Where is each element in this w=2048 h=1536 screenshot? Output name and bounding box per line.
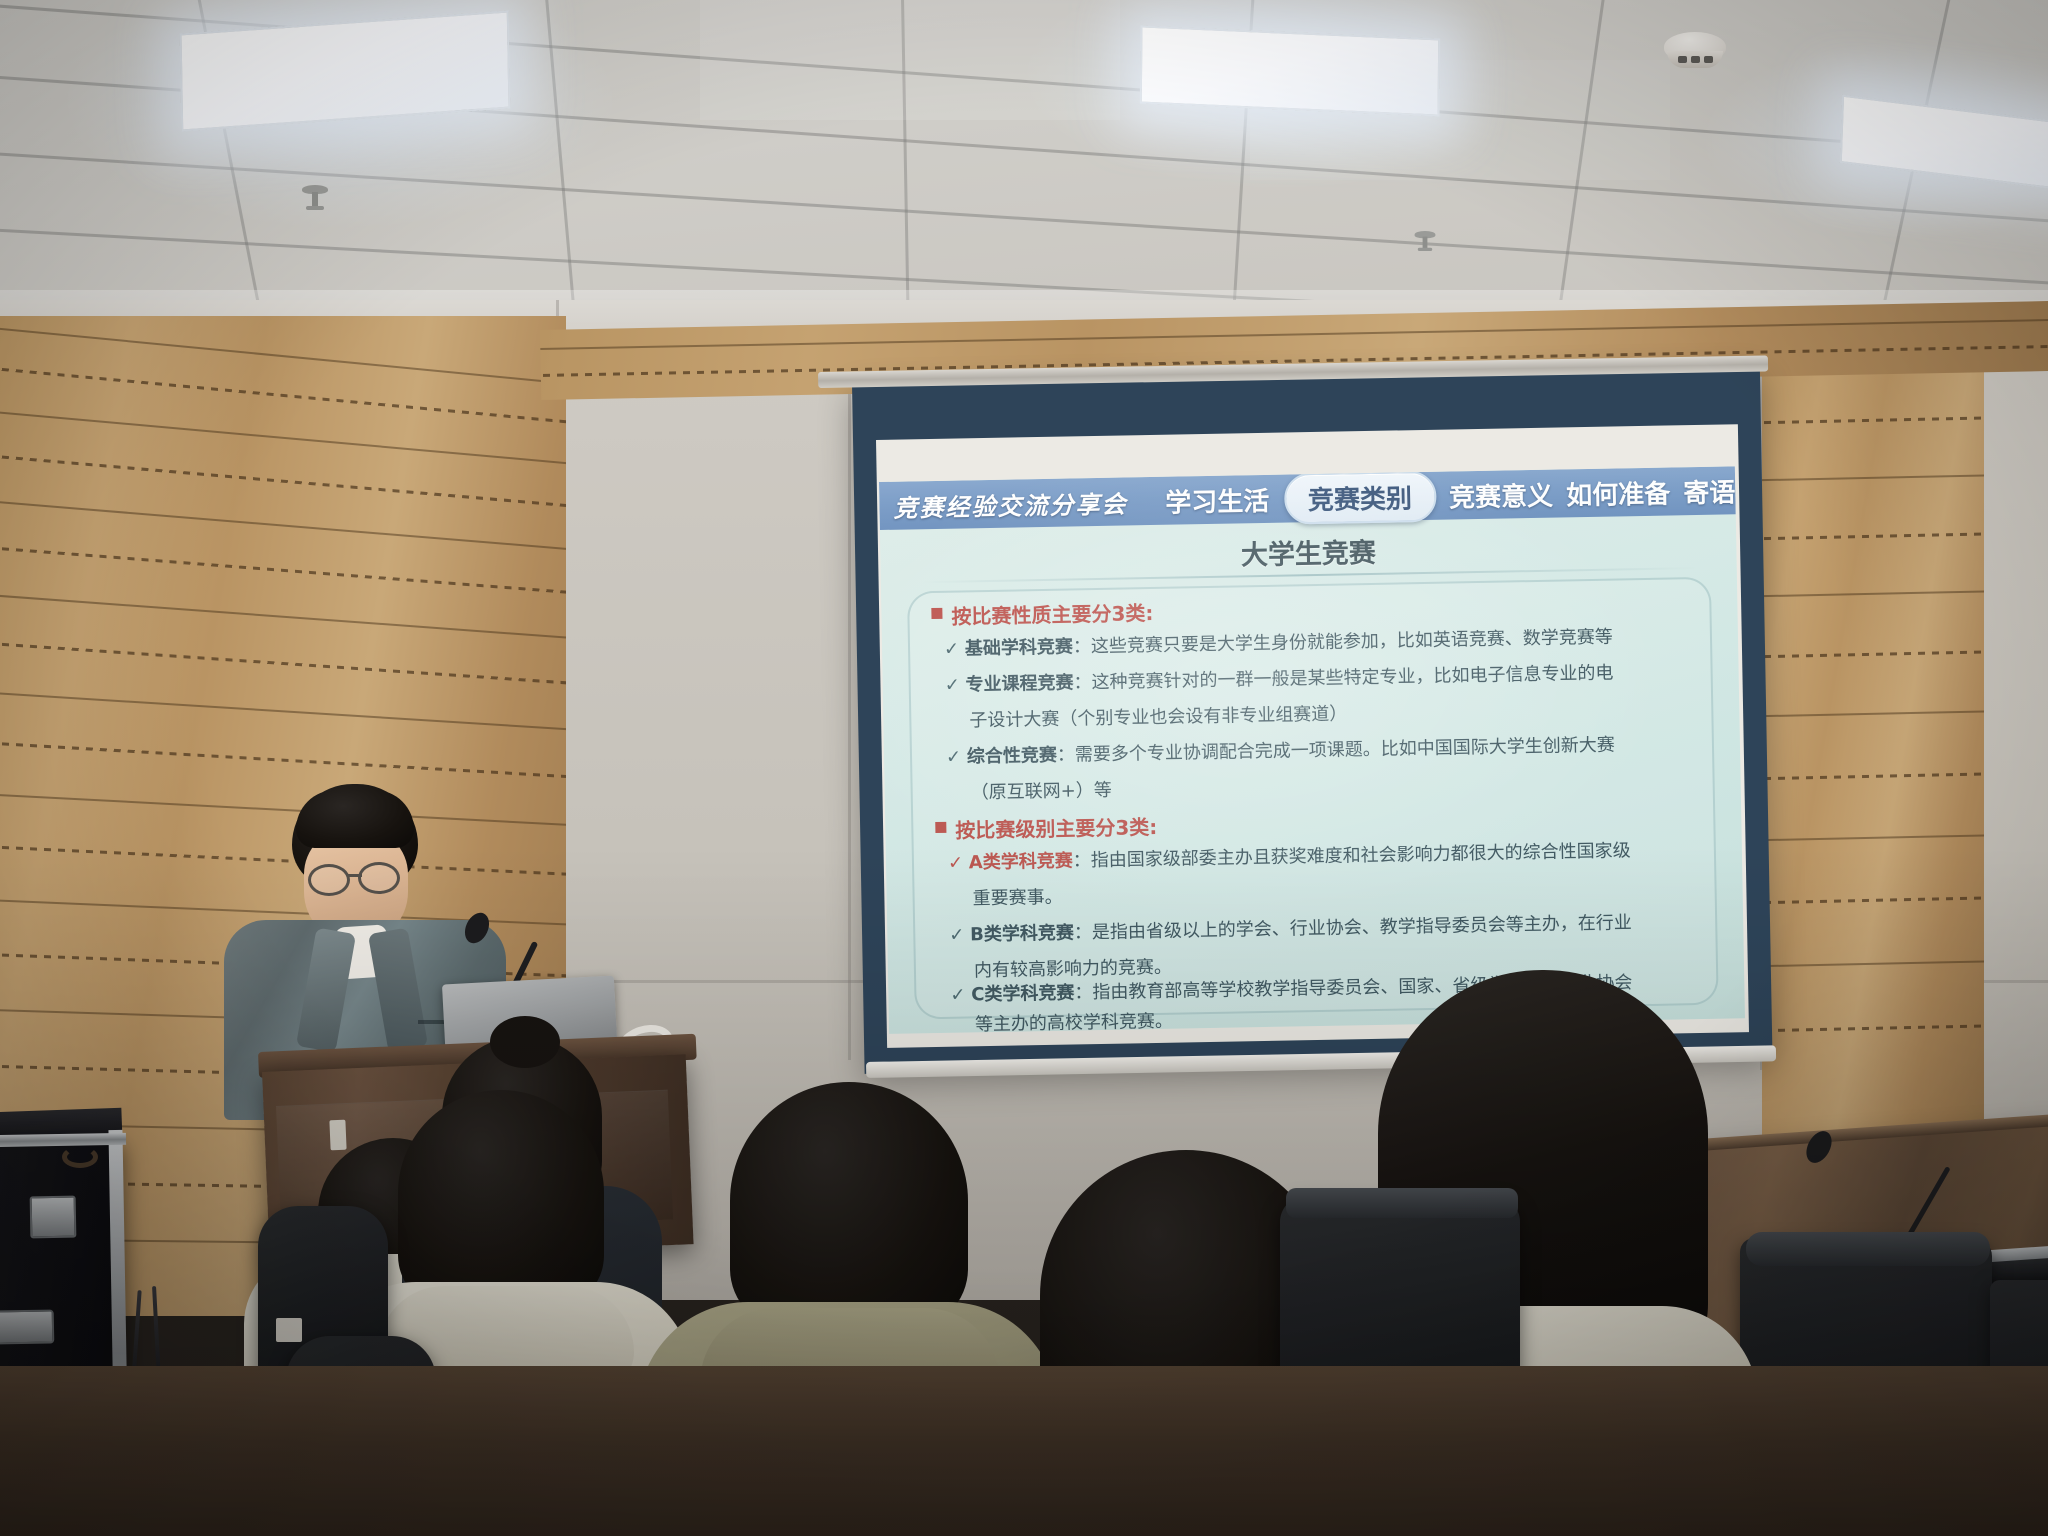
item-label: 综合性竞赛 — [967, 745, 1057, 768]
nav-item-jingsaiyiyi[interactable]: 竞赛意义 — [1449, 475, 1554, 514]
item-label: A类学科竞赛 — [969, 851, 1073, 874]
nav-item-xuexishenghuo[interactable]: 学习生活 — [1165, 480, 1270, 519]
presenter-glasses-left-lens — [308, 864, 350, 896]
room-scene: 竞赛经验交流分享会 学习生活 竞赛类别 竞赛意义 如何准备 寄语 大学生竞赛 按… — [0, 0, 2048, 1536]
conference-chair-right-1-backrail — [1746, 1232, 1990, 1266]
check-icon: ✓ — [946, 747, 961, 768]
bullet-square-marker-1 — [931, 608, 942, 619]
flight-case-latch-top[interactable] — [30, 1196, 77, 1239]
smoke-detector-icon — [1664, 32, 1726, 72]
check-icon: ✓ — [950, 985, 965, 1006]
sprinkler-icon-right — [1415, 231, 1436, 255]
item-sep: ： — [1073, 850, 1091, 871]
floor — [0, 1366, 2048, 1536]
item-label: C类学科竞赛 — [971, 983, 1075, 1006]
item-sep: ： — [1074, 922, 1092, 943]
audience-member-2-bun — [490, 1016, 560, 1068]
ceiling-light-panel-center — [1140, 25, 1440, 116]
section-heading-1: 按比赛性质主要分3类: — [951, 597, 1153, 630]
flight-case-edge-top — [0, 1133, 126, 1147]
sprinkler-icon — [302, 185, 328, 215]
item-sep: ： — [1073, 672, 1091, 693]
presentation-slide: 竞赛经验交流分享会 学习生活 竞赛类别 竞赛意义 如何准备 寄语 大学生竞赛 按… — [879, 466, 1745, 1034]
podium-control-button[interactable] — [329, 1120, 346, 1151]
item-label: B类学科竞赛 — [970, 923, 1074, 946]
bullet-item-2-1-cont: 重要赛事。 — [972, 883, 1062, 911]
slide-nav-brand: 竞赛经验交流分享会 — [893, 484, 1128, 523]
nav-item-jiyu[interactable]: 寄语 — [1683, 472, 1736, 510]
nav-item-jingsaileibie[interactable]: 竞赛类别 — [1283, 470, 1436, 524]
item-label: 基础学科竞赛 — [965, 636, 1073, 659]
item-sep: ： — [1073, 636, 1091, 657]
ceiling — [0, 0, 2048, 330]
flight-case-handle[interactable] — [0, 1309, 54, 1344]
slide-title: 大学生竞赛 — [880, 524, 1737, 579]
check-icon: ✓ — [944, 639, 959, 660]
item-sep: ： — [1074, 982, 1092, 1003]
bullet-square-marker-2 — [935, 822, 946, 833]
bullet-item-1-3-cont: （原互联网+）等 — [970, 776, 1112, 805]
presenter-glasses-right-lens — [358, 862, 400, 894]
section-heading-2: 按比赛级别主要分3类: — [955, 811, 1157, 844]
presenter-hair-fringe — [296, 790, 414, 848]
check-icon: ✓ — [949, 925, 964, 946]
check-icon: ✓ — [945, 675, 960, 696]
flight-case-strap — [62, 1146, 98, 1168]
floor-outlet-plate — [276, 1318, 302, 1342]
wood-slat-wall-right — [1762, 336, 1984, 1166]
check-icon: ✓ — [948, 853, 963, 874]
item-sep: ： — [1057, 744, 1075, 765]
nav-item-ruhezhunbei[interactable]: 如何准备 — [1566, 473, 1671, 512]
audience-chair-3-rail — [1286, 1188, 1518, 1218]
item-label: 专业课程竞赛 — [965, 672, 1073, 695]
presenter-glasses-bridge — [348, 874, 362, 877]
